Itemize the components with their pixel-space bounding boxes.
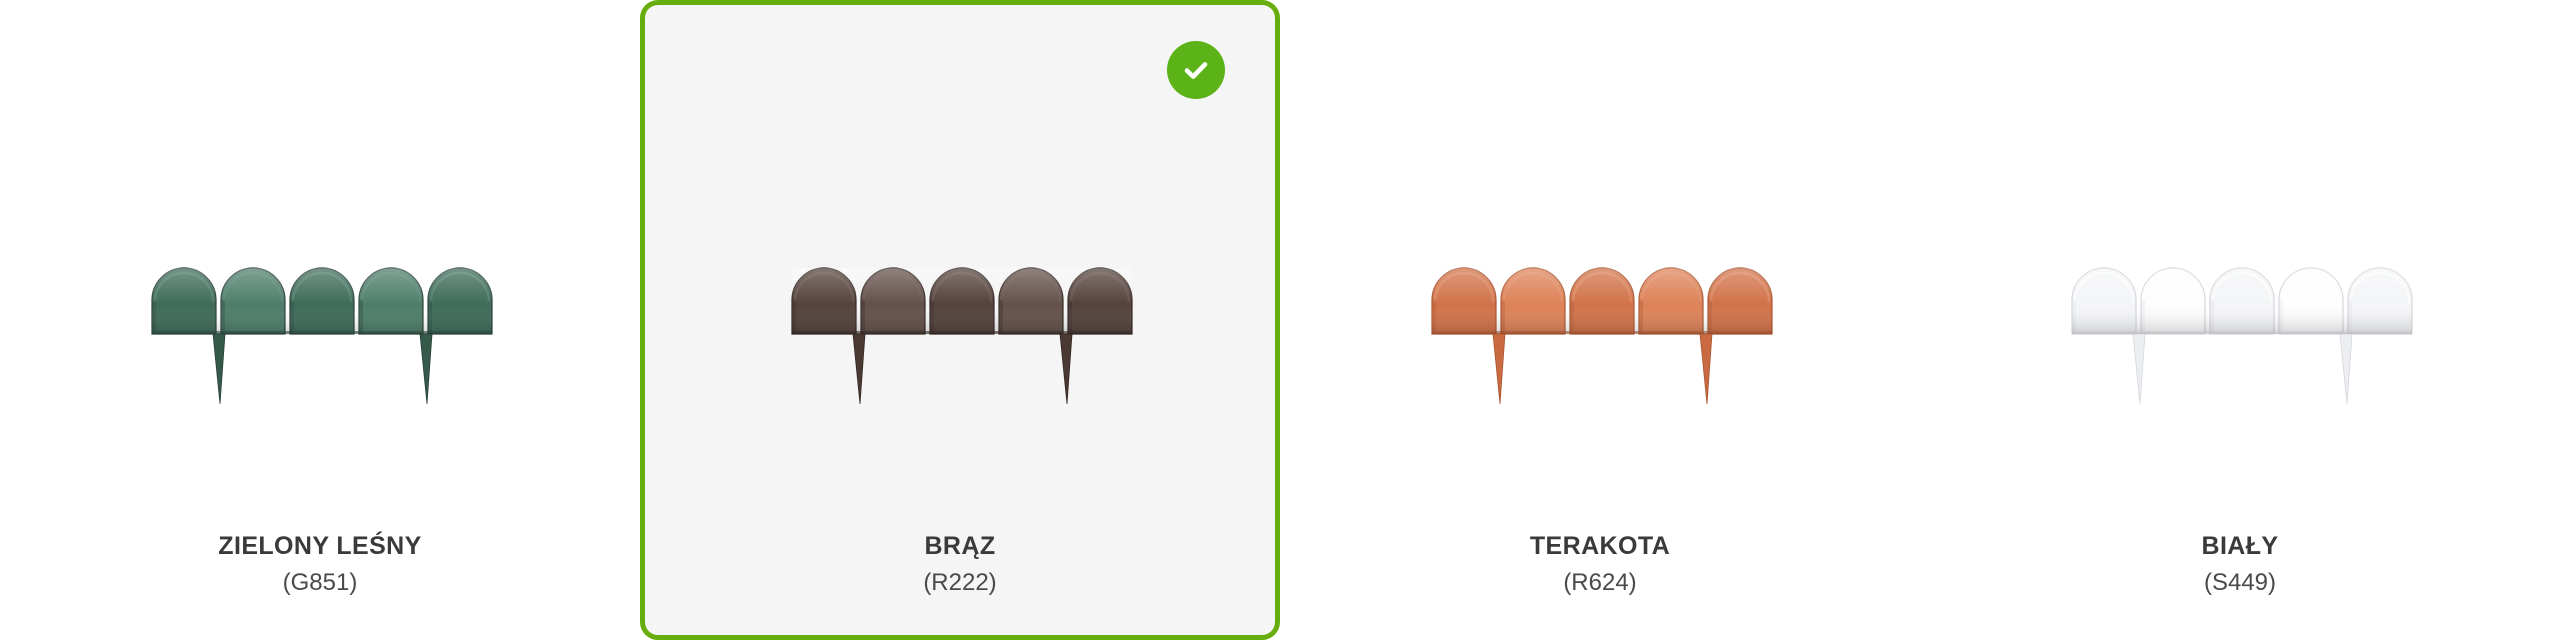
product-image [1925,260,2555,420]
product-image [645,260,1275,420]
lawn-edging-graphic [786,260,1134,410]
swatch-name: ZIELONY LEŚNY [5,532,635,562]
swatch-name: BRĄZ [645,532,1275,562]
swatch-label-block: BIAŁY (S449) [1925,532,2555,597]
lawn-edging-graphic [2066,260,2414,410]
color-swatch-card[interactable]: BRĄZ (R222) [640,0,1280,640]
swatch-code: (R624) [1285,569,1915,597]
color-swatch-card[interactable]: TERAKOTA (R624) [1280,0,1920,640]
product-image [1285,260,1915,420]
swatch-code: (G851) [5,569,635,597]
swatch-label-block: ZIELONY LEŚNY (G851) [5,532,635,597]
swatch-name: BIAŁY [1925,532,2555,562]
check-icon [1179,53,1213,87]
color-swatch-card[interactable]: ZIELONY LEŚNY (G851) [0,0,640,640]
swatch-name: TERAKOTA [1285,532,1915,562]
color-swatch-grid: ZIELONY LEŚNY (G851) [0,0,2560,640]
product-image [5,260,635,420]
swatch-label-block: TERAKOTA (R624) [1285,532,1915,597]
swatch-code: (R222) [645,569,1275,597]
swatch-label-block: BRĄZ (R222) [645,532,1275,597]
color-swatch-card[interactable]: BIAŁY (S449) [1920,0,2560,640]
swatch-code: (S449) [1925,569,2555,597]
selected-check-badge [1167,41,1225,99]
lawn-edging-graphic [146,260,494,410]
lawn-edging-graphic [1426,260,1774,410]
